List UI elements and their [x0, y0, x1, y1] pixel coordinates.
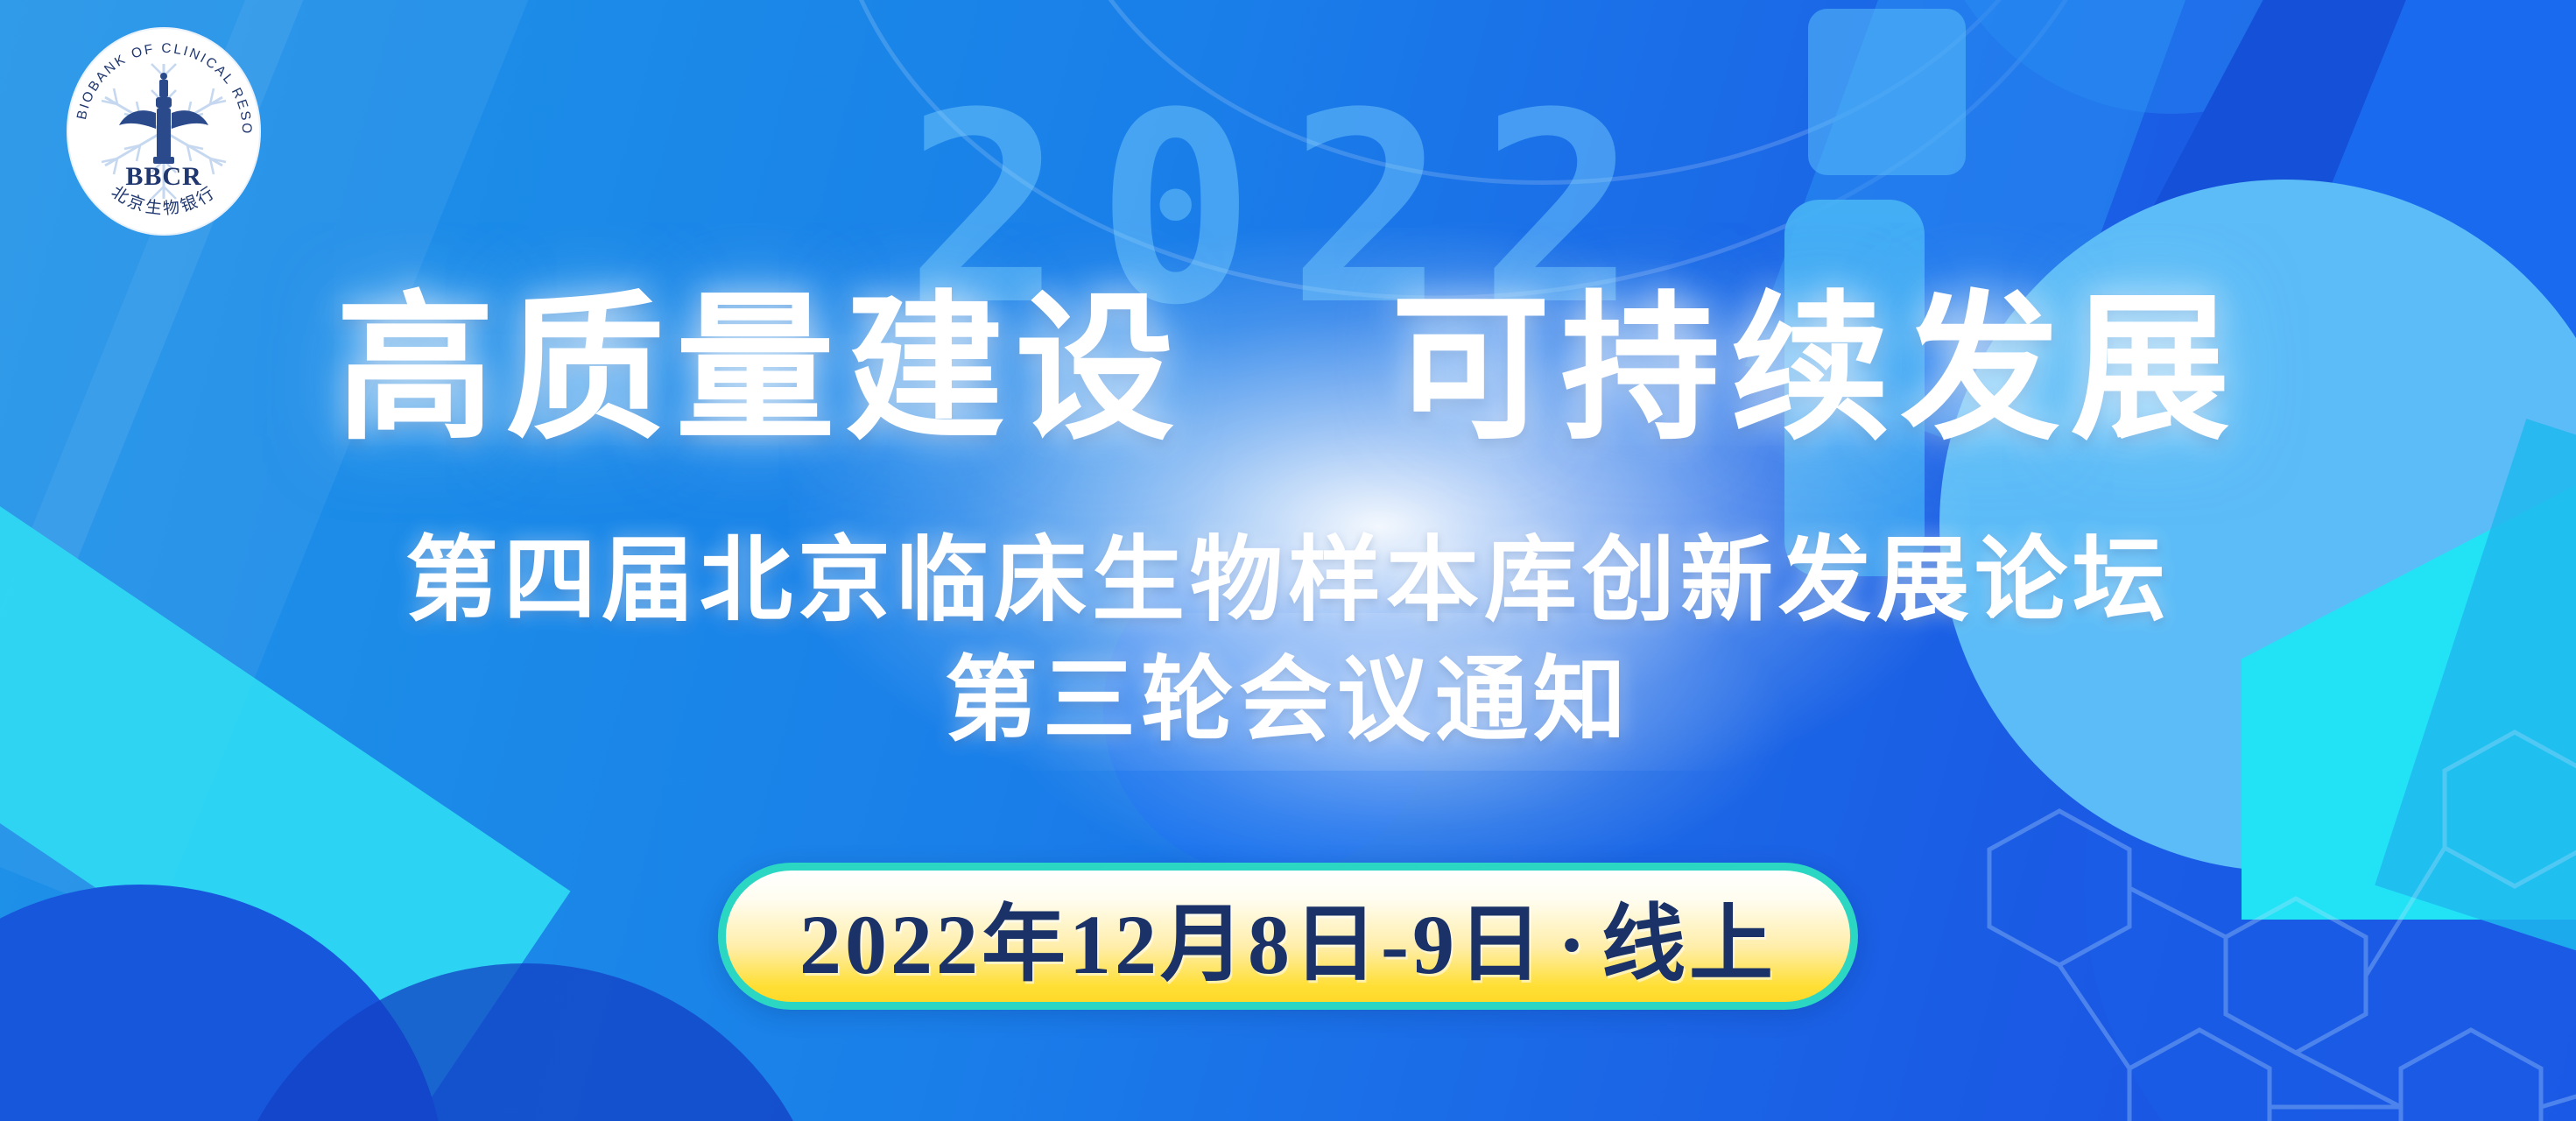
- date-range-text: 2022年12月8日-9日: [799, 898, 1545, 991]
- date-venue-text: 2022年12月8日-9日·线上: [799, 876, 1777, 998]
- subtitle-line-2: 第三轮会议通知: [0, 650, 2576, 752]
- venue-text: 线上: [1601, 898, 1777, 991]
- headline: 高质量建设 可持续发展: [0, 289, 2576, 448]
- banner-content: 高质量建设 可持续发展 第四届北京临床生物样本库创新发展论坛 第三轮会议通知 2…: [0, 0, 2576, 1121]
- conference-banner: 2022: [0, 0, 2576, 1121]
- separator-dot: ·: [1545, 898, 1601, 991]
- date-venue-badge: 2022年12月8日-9日·线上: [718, 863, 1858, 1010]
- headline-part-2: 可持续发展: [1391, 279, 2241, 458]
- subtitle-line-1: 第四届北京临床生物样本库创新发展论坛: [0, 530, 2576, 632]
- headline-part-1: 高质量建设: [335, 279, 1185, 458]
- date-pill-container: 2022年12月8日-9日·线上: [0, 863, 2576, 1010]
